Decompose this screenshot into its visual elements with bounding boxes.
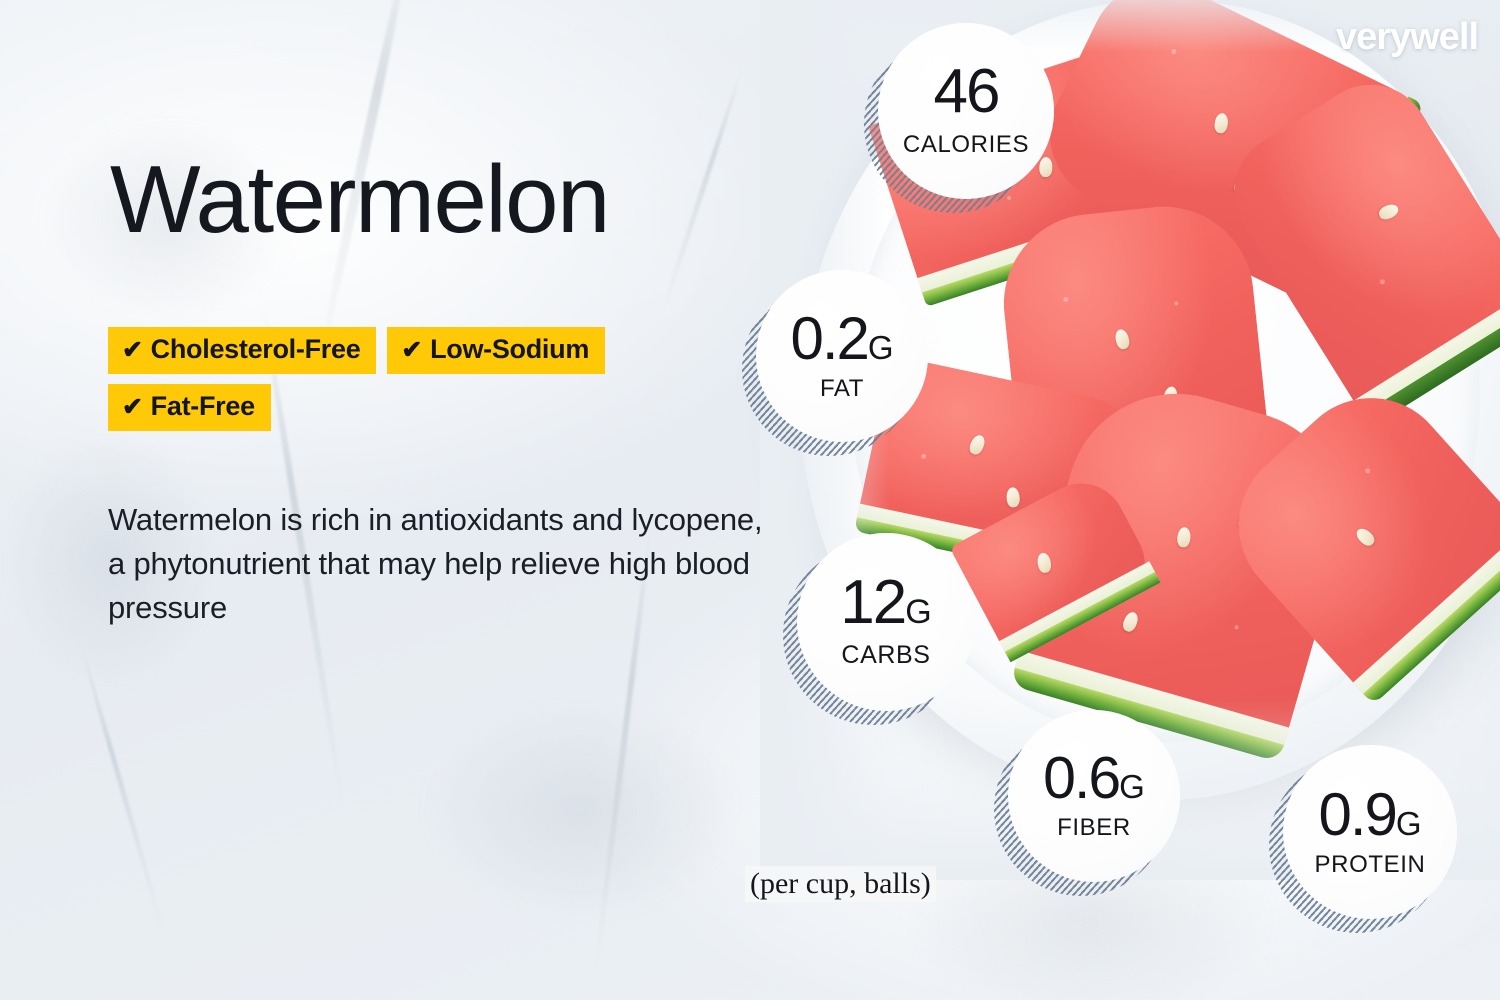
nutrient-value: 0.2 [790,310,867,367]
check-icon: ✔ [401,338,422,363]
nutrient-badge-fiber: 0.6G FIBER [1008,710,1180,882]
verywell-logo: verywell [1336,16,1478,59]
nutrient-value-group: 0.6G [1043,750,1145,806]
description-text: Watermelon is rich in antioxidants and l… [108,498,768,630]
nutrient-badge-fat: 0.2G FAT [756,270,928,442]
claim-label: Cholesterol-Free [151,334,361,365]
claim-badge-low-sodium: ✔ Low-Sodium [387,327,605,374]
nutrient-badge-protein: 0.9G PROTEIN [1283,745,1457,919]
nutrient-unit: G [905,596,931,628]
nutrient-value-group: 0.2G [790,310,893,367]
check-icon: ✔ [122,395,143,420]
nutrient-value: 0.9 [1318,786,1395,843]
nutrient-badge-calories: 46 CALORIES [878,23,1054,199]
claims-group: ✔ Cholesterol-Free ✔ Low-Sodium ✔ Fat-Fr… [108,327,708,441]
check-icon: ✔ [122,338,143,363]
claim-badge-cholesterol-free: ✔ Cholesterol-Free [108,327,376,374]
nutrient-value-group: 0.9G [1318,786,1421,843]
nutrient-value: 46 [934,63,999,122]
nutrient-value: 12 [840,574,905,633]
nutrient-unit: G [1119,771,1145,802]
nutrient-label: FAT [820,375,864,403]
claim-label: Low-Sodium [430,334,589,365]
nutrient-label: CALORIES [903,131,1029,159]
claim-badge-fat-free: ✔ Fat-Free [108,384,271,431]
claim-label: Fat-Free [151,391,255,422]
nutrient-value-group: 12G [840,574,931,633]
nutrient-label: PROTEIN [1315,851,1426,879]
serving-note: (per cup, balls) [745,866,936,902]
nutrient-label: CARBS [841,641,930,670]
nutrient-value: 0.6 [1043,750,1119,806]
marble-blotch [420,700,740,920]
claims-row-2: ✔ Fat-Free [108,384,708,431]
nutrient-value-group: 46 [934,63,999,122]
nutrient-label: FIBER [1057,814,1131,842]
nutrient-badge-carbs: 12G CARBS [797,533,975,711]
infographic-canvas: verywell Watermelon ✔ Cholesterol-Free ✔… [0,0,1500,1000]
nutrient-unit: G [1396,808,1422,839]
nutrient-unit: G [868,332,894,363]
claims-row-1: ✔ Cholesterol-Free ✔ Low-Sodium [108,327,708,374]
page-title: Watermelon [110,152,609,248]
